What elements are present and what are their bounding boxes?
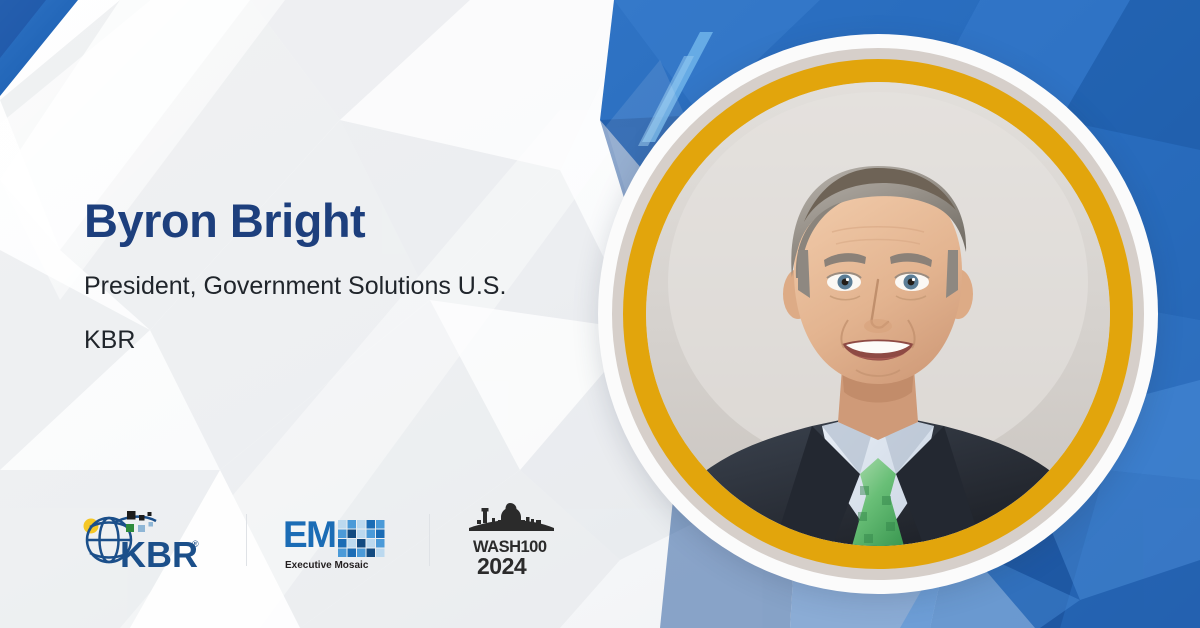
kbr-wordmark: KBR bbox=[120, 534, 198, 575]
kbr-logo-mark: KBR ® bbox=[78, 504, 210, 576]
logo-divider bbox=[429, 514, 430, 566]
person-title: President, Government Solutions U.S. bbox=[84, 271, 604, 302]
dc-skyline-icon bbox=[469, 503, 554, 531]
logo-strip: KBR ® EM bbox=[78, 498, 556, 582]
portrait-photo bbox=[646, 82, 1110, 546]
wash100-2024-logo: WASH100 2024 bbox=[466, 498, 556, 582]
person-organization: KBR bbox=[84, 325, 604, 356]
wash100-mark: WASH100 2024 bbox=[466, 500, 556, 580]
profile-text-block: Byron Bright President, Government Solut… bbox=[84, 196, 604, 356]
logo-divider bbox=[246, 514, 247, 566]
em-wordmark: EM bbox=[283, 514, 336, 555]
wash100-year: 2024 bbox=[477, 553, 527, 579]
executive-mosaic-mark: EM bbox=[283, 509, 393, 571]
portrait-frame bbox=[598, 34, 1158, 594]
kbr-logo: KBR ® bbox=[78, 498, 210, 582]
kbr-trademark-icon: ® bbox=[192, 539, 199, 549]
mosaic-tiles bbox=[338, 520, 385, 557]
page-title: Byron Bright bbox=[84, 196, 604, 245]
executive-profile-banner: Byron Bright President, Government Solut… bbox=[0, 0, 1200, 628]
em-tagline: Executive Mosaic bbox=[285, 560, 369, 571]
executive-mosaic-logo: EM bbox=[283, 498, 393, 582]
